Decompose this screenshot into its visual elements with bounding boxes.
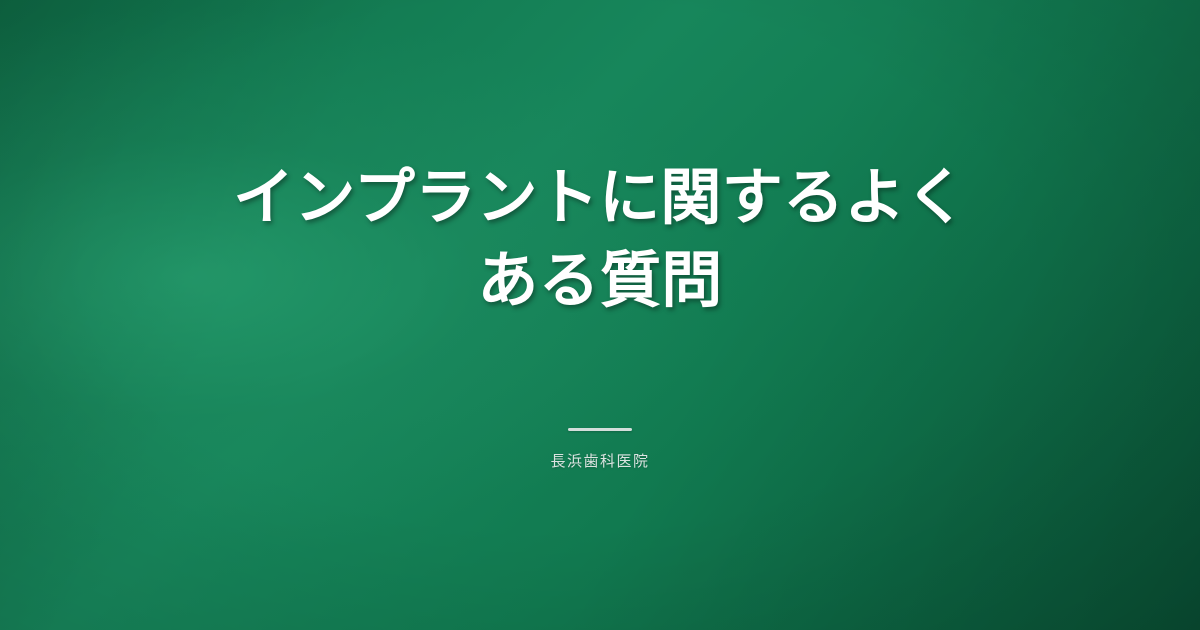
site-name-subtitle: 長浜歯科医院 [550,451,649,474]
title-divider [568,428,632,431]
page-title: インプラントに関するよくある質問 [220,156,980,322]
og-card: インプラントに関するよくある質問 長浜歯科医院 [0,0,1200,630]
card-content: インプラントに関するよくある質問 長浜歯科医院 [0,0,1200,630]
